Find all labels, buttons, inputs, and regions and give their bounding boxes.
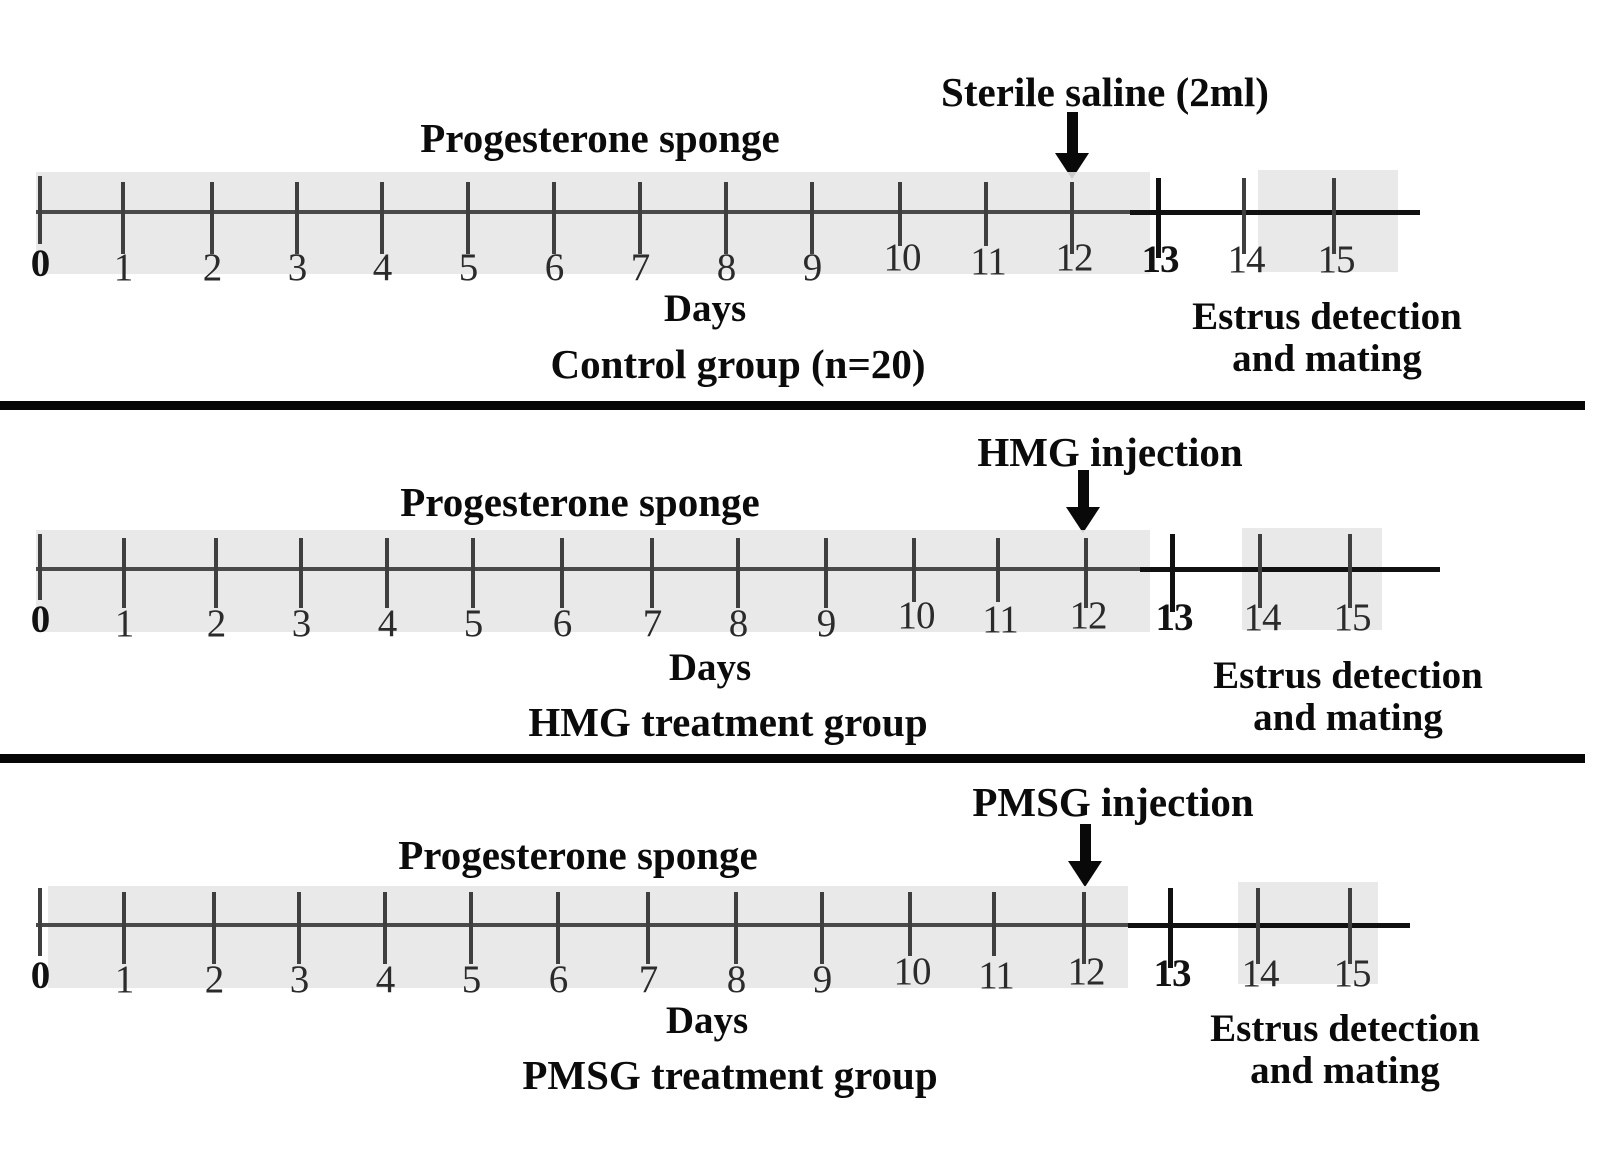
tick-label-day-4: 4 (376, 960, 395, 999)
panel-divider-1 (0, 401, 1585, 410)
tick-day-9 (820, 892, 824, 964)
tick-day-0 (38, 888, 42, 956)
panel-pmsg-group: PMSG injection Progesterone sponge (0, 768, 1616, 1168)
tick-day-8 (734, 892, 738, 964)
tick-day-1 (122, 538, 126, 608)
axis-line-estrus-pmsg (1238, 923, 1410, 928)
group-label-hmg: HMG treatment group (528, 700, 927, 744)
tick-day-5 (466, 182, 470, 254)
group-label-control: Control group (n=20) (551, 342, 926, 386)
tick-label-day-11: 11 (970, 242, 1006, 281)
tick-day-2 (214, 538, 218, 608)
tick-day-5 (469, 892, 473, 964)
tick-label-day-13: 13 (1154, 954, 1191, 993)
tick-label-day-8: 8 (727, 960, 746, 999)
tick-label-day-4: 4 (373, 248, 392, 287)
estrus-label-line2-pmsg: and mating (1250, 1050, 1440, 1092)
tick-day-10 (912, 538, 916, 602)
estrus-label-line1-hmg: Estrus detection (1213, 655, 1483, 697)
tick-label-day-6: 6 (549, 960, 568, 999)
tick-label-day-11: 11 (978, 956, 1014, 995)
tick-day-9 (824, 538, 828, 608)
tick-label-day-12: 12 (1070, 596, 1107, 635)
tick-label-day-0: 0 (31, 244, 50, 283)
tick-day-8 (724, 182, 728, 254)
tick-label-day-15: 15 (1334, 598, 1371, 637)
tick-label-day-11: 11 (982, 600, 1018, 639)
tick-label-day-8: 8 (729, 604, 748, 643)
tick-label-day-10: 10 (894, 952, 931, 991)
tick-label-day-13: 13 (1142, 240, 1179, 279)
tick-label-day-2: 2 (203, 248, 222, 287)
days-axis-label-control: Days (664, 288, 746, 330)
tick-label-day-14: 14 (1228, 240, 1265, 279)
tick-label-day-1: 1 (115, 604, 134, 643)
tick-label-day-5: 5 (462, 960, 481, 999)
panel-divider-2 (0, 754, 1585, 763)
tick-day-7 (646, 892, 650, 964)
tick-label-day-5: 5 (459, 248, 478, 287)
estrus-label-line1-pmsg: Estrus detection (1210, 1008, 1480, 1050)
tick-day-8 (736, 538, 740, 608)
tick-label-day-7: 7 (631, 248, 650, 287)
days-axis-label-hmg: Days (669, 647, 751, 689)
tick-day-6 (556, 892, 560, 964)
tick-label-day-7: 7 (639, 960, 658, 999)
days-axis-label-pmsg: Days (666, 1000, 748, 1042)
tick-label-day-4: 4 (378, 604, 397, 643)
tick-day-3 (295, 182, 299, 254)
tick-label-day-3: 3 (288, 248, 307, 287)
tick-label-day-13: 13 (1156, 598, 1193, 637)
tick-label-day-9: 9 (817, 604, 836, 643)
tick-label-day-15: 15 (1318, 240, 1355, 279)
tick-day-0 (38, 176, 42, 244)
tick-label-day-14: 14 (1244, 598, 1281, 637)
axis-line-estrus-hmg (1242, 567, 1440, 572)
tick-label-day-3: 3 (290, 960, 309, 999)
tick-label-day-2: 2 (207, 604, 226, 643)
panel-hmg-group: HMG injection Progesterone sponge (0, 412, 1616, 752)
panel-control-group: Sterile saline (2ml) Progesterone sponge (0, 0, 1616, 400)
tick-label-day-1: 1 (114, 248, 133, 287)
tick-day-3 (297, 892, 301, 964)
tick-day-4 (380, 182, 384, 254)
tick-label-day-14: 14 (1242, 954, 1279, 993)
experiment-timeline-figure: Sterile saline (2ml) Progesterone sponge (0, 0, 1616, 1168)
tick-day-1 (122, 892, 126, 964)
tick-label-day-6: 6 (553, 604, 572, 643)
tick-label-day-12: 12 (1068, 952, 1105, 991)
tick-day-4 (383, 892, 387, 964)
tick-day-0 (38, 534, 42, 600)
tick-day-4 (385, 538, 389, 608)
tick-day-6 (560, 538, 564, 608)
tick-day-6 (552, 182, 556, 254)
tick-label-day-12: 12 (1056, 238, 1093, 277)
tick-label-day-5: 5 (464, 604, 483, 643)
tick-day-7 (638, 182, 642, 254)
tick-label-day-10: 10 (884, 238, 921, 277)
tick-label-day-2: 2 (205, 960, 224, 999)
tick-label-day-9: 9 (803, 248, 822, 287)
tick-day-9 (810, 182, 814, 254)
tick-day-2 (212, 892, 216, 964)
tick-label-day-10: 10 (898, 596, 935, 635)
tick-day-5 (471, 538, 475, 608)
tick-label-day-6: 6 (545, 248, 564, 287)
axis-line-sponge-hmg (36, 567, 1164, 571)
tick-day-2 (210, 182, 214, 254)
estrus-label-line2-control: and mating (1232, 338, 1422, 380)
tick-day-3 (299, 538, 303, 608)
axis-line-estrus-control (1258, 210, 1420, 215)
tick-label-day-7: 7 (643, 604, 662, 643)
tick-day-11 (992, 892, 996, 956)
axis-line-sponge-pmsg (36, 923, 1138, 927)
group-label-pmsg: PMSG treatment group (522, 1053, 937, 1097)
tick-label-day-3: 3 (292, 604, 311, 643)
tick-label-day-0: 0 (31, 956, 50, 995)
timeline-control: 0 1 2 3 4 5 6 7 8 9 10 11 12 13 14 15 (0, 0, 1616, 340)
tick-day-10 (908, 892, 912, 956)
tick-day-1 (121, 182, 125, 254)
tick-label-day-8: 8 (717, 248, 736, 287)
tick-day-7 (650, 538, 654, 608)
tick-label-day-9: 9 (813, 960, 832, 999)
tick-label-day-0: 0 (31, 600, 50, 639)
tick-day-11 (984, 182, 988, 246)
tick-day-11 (996, 538, 1000, 602)
estrus-label-line2-hmg: and mating (1253, 697, 1443, 739)
tick-label-day-15: 15 (1334, 954, 1371, 993)
tick-label-day-1: 1 (115, 960, 134, 999)
estrus-label-line1-control: Estrus detection (1192, 296, 1462, 338)
